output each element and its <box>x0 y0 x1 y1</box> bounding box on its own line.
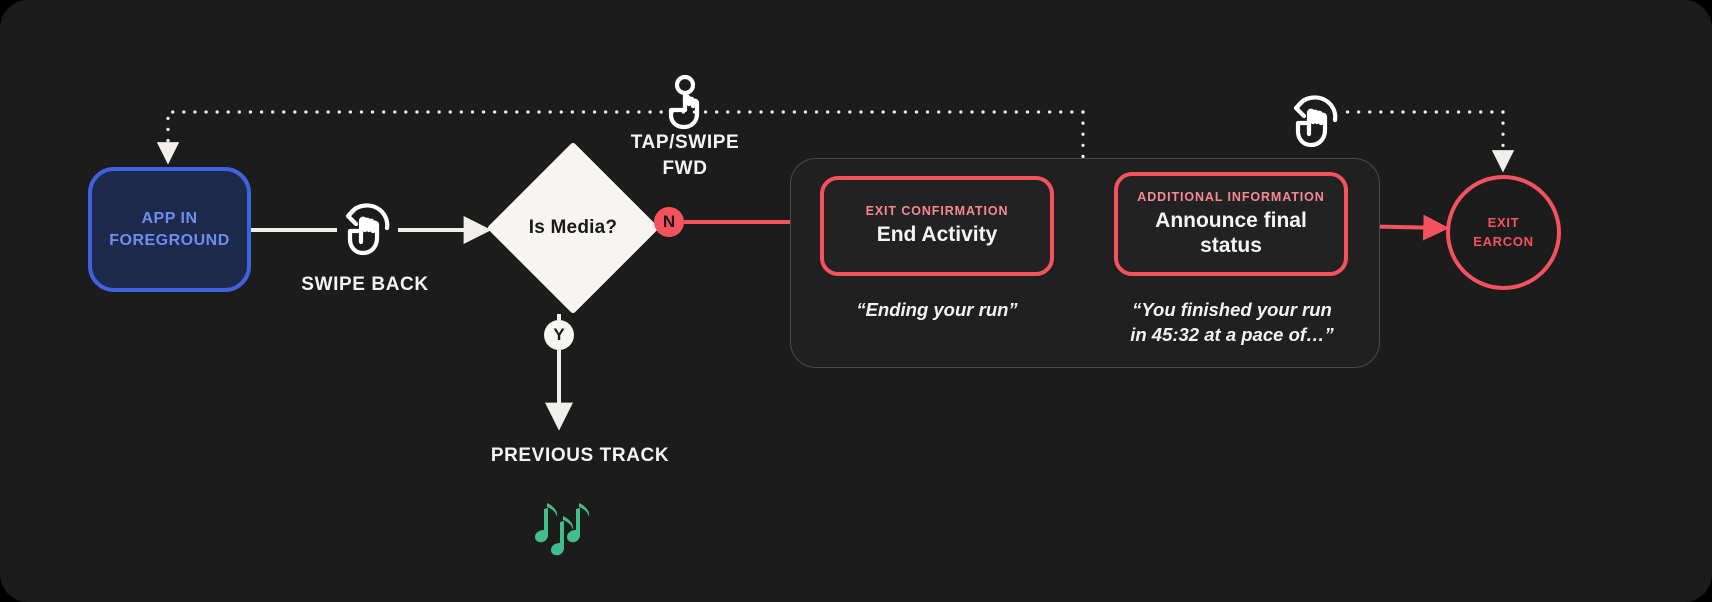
music-notes-icon <box>533 500 591 567</box>
node-exit-earcon-label: EXIT EARCON <box>1473 214 1534 250</box>
diagram-canvas: APP IN FOREGROUND SWIPE BACK Is Media? N… <box>0 0 1712 602</box>
card-additional-information[interactable]: ADDITIONAL INFORMATION Announce final st… <box>1114 172 1348 276</box>
app-fg-line-1: APP IN <box>141 210 197 227</box>
tap-fwd-line-2: FWD <box>662 158 707 179</box>
app-fg-line-2: FOREGROUND <box>109 232 230 249</box>
tap-fwd-line-1: TAP/SWIPE <box>631 132 740 153</box>
branch-badge-no: N <box>654 207 684 237</box>
card-additional-information-title: Announce final status <box>1155 208 1307 258</box>
node-app-in-foreground-label: APP IN FOREGROUND <box>109 208 230 251</box>
edge-label-tap-swipe-fwd: TAP/SWIPE FWD <box>560 130 810 181</box>
card-exit-confirmation-title: End Activity <box>877 222 998 247</box>
quote-2-line-2: in 45:32 at a pace of…” <box>1130 324 1334 345</box>
branch-badge-yes: Y <box>544 320 574 350</box>
edge-label-previous-track: PREVIOUS TRACK <box>420 443 740 469</box>
earcon-line-1: EXIT <box>1488 215 1520 230</box>
swipe-back-hand-icon <box>340 198 398 265</box>
node-exit-earcon[interactable]: EXIT EARCON <box>1446 175 1561 290</box>
card-additional-information-kicker: ADDITIONAL INFORMATION <box>1137 190 1324 204</box>
earcon-line-2: EARCON <box>1473 234 1534 249</box>
quote-2-line-1: “You finished your run <box>1132 299 1332 320</box>
card-exit-confirmation-kicker: EXIT CONFIRMATION <box>866 204 1009 218</box>
quote-additional-information: “You finished your run in 45:32 at a pac… <box>1104 298 1360 348</box>
swipe-back-hand-icon-return <box>1288 90 1346 157</box>
quote-exit-confirmation: “Ending your run” <box>820 298 1054 323</box>
extra-card-title-line-2: status <box>1200 234 1262 257</box>
tap-hand-icon <box>663 74 711 137</box>
edge-label-swipe-back: SWIPE BACK <box>240 272 490 298</box>
extra-card-title-line-1: Announce final <box>1155 209 1307 232</box>
card-exit-confirmation[interactable]: EXIT CONFIRMATION End Activity <box>820 176 1054 276</box>
node-app-in-foreground[interactable]: APP IN FOREGROUND <box>88 167 251 292</box>
